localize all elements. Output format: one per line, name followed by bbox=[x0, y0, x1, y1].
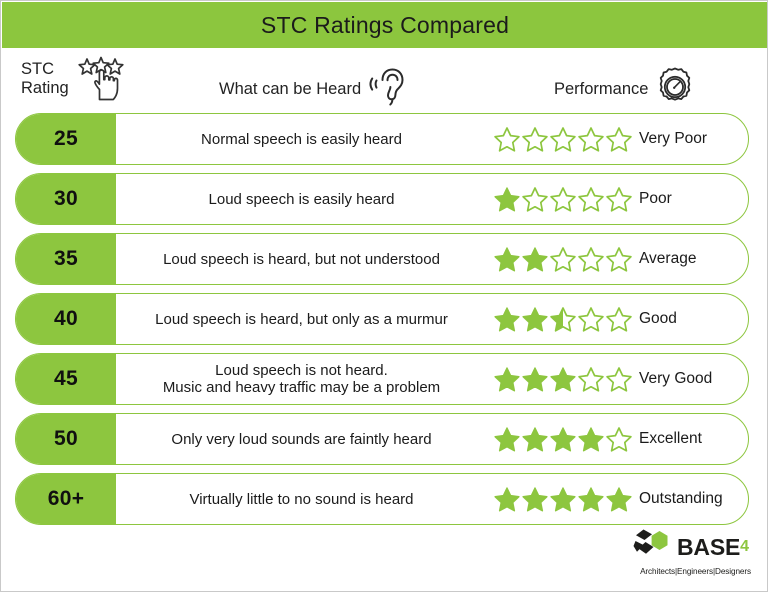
table-row[interactable]: 50Only very loud sounds are faintly hear… bbox=[15, 413, 749, 465]
row-description: Only very loud sounds are faintly heard bbox=[116, 414, 493, 464]
star-icon bbox=[521, 186, 549, 213]
star-icon bbox=[605, 486, 633, 513]
stc-ratings-infographic: STC Ratings Compared STC Rating bbox=[0, 0, 768, 592]
ear-listening-icon bbox=[368, 66, 408, 113]
stc-rating-label: STC Rating bbox=[21, 56, 69, 98]
table-row[interactable]: 40Loud speech is heard, but only as a mu… bbox=[15, 293, 749, 345]
what-can-be-heard-label: What can be Heard bbox=[219, 80, 361, 99]
star-rating bbox=[493, 366, 633, 393]
star-icon bbox=[493, 486, 521, 513]
base4-diamond-logo-icon bbox=[633, 529, 673, 564]
star-rating bbox=[493, 426, 633, 453]
star-icon bbox=[577, 126, 605, 153]
table-row[interactable]: 45Loud speech is not heard. Music and he… bbox=[15, 353, 749, 405]
stc-rating-badge: 30 bbox=[16, 174, 116, 224]
star-icon bbox=[493, 426, 521, 453]
star-icon bbox=[605, 426, 633, 453]
star-rating bbox=[493, 126, 633, 153]
table-row[interactable]: 30Loud speech is easily heardPoor bbox=[15, 173, 749, 225]
logo-tagline: Architects|Engineers|Designers bbox=[633, 567, 751, 576]
star-icon bbox=[577, 426, 605, 453]
star-icon bbox=[521, 306, 549, 333]
star-rating bbox=[493, 186, 633, 213]
base4-logo: BASE4 Architects|Engineers|Designers bbox=[633, 529, 751, 581]
star-icon bbox=[605, 186, 633, 213]
performance-cell: Good bbox=[493, 294, 748, 344]
gear-gauge-icon bbox=[655, 66, 695, 113]
row-description: Loud speech is not heard. Music and heav… bbox=[116, 354, 493, 404]
logo-wordmark-text: BASE bbox=[677, 534, 740, 560]
performance-label: Performance bbox=[554, 80, 648, 99]
performance-cell: Very Good bbox=[493, 354, 748, 404]
row-description: Loud speech is heard, but not understood bbox=[116, 234, 493, 284]
star-rating bbox=[493, 246, 633, 273]
star-icon bbox=[605, 246, 633, 273]
star-icon bbox=[521, 426, 549, 453]
table-row[interactable]: 60+Virtually little to no sound is heard… bbox=[15, 473, 749, 525]
performance-cell: Very Poor bbox=[493, 114, 748, 164]
stc-rating-label-line1: STC bbox=[21, 60, 69, 79]
star-icon bbox=[577, 186, 605, 213]
stc-rating-badge: 35 bbox=[16, 234, 116, 284]
logo-wordmark: BASE4 bbox=[677, 535, 749, 559]
table-row[interactable]: 35Loud speech is heard, but not understo… bbox=[15, 233, 749, 285]
star-icon bbox=[605, 366, 633, 393]
stc-rating-label-line2: Rating bbox=[21, 79, 69, 98]
stc-rating-badge: 40 bbox=[16, 294, 116, 344]
performance-rating-label: Very Good bbox=[639, 370, 712, 388]
star-icon bbox=[493, 126, 521, 153]
star-icon bbox=[577, 306, 605, 333]
star-icon bbox=[521, 126, 549, 153]
performance-rating-label: Good bbox=[639, 310, 677, 328]
star-icon bbox=[605, 306, 633, 333]
performance-cell: Excellent bbox=[493, 414, 748, 464]
star-icon bbox=[521, 486, 549, 513]
star-icon bbox=[549, 126, 577, 153]
performance-cell: Outstanding bbox=[493, 474, 748, 524]
stc-rating-badge: 25 bbox=[16, 114, 116, 164]
row-description: Loud speech is heard, but only as a murm… bbox=[116, 294, 493, 344]
star-rating bbox=[493, 486, 633, 513]
column-header-stc-rating: STC Rating bbox=[21, 56, 128, 107]
star-icon bbox=[493, 186, 521, 213]
star-icon bbox=[549, 366, 577, 393]
title-band: STC Ratings Compared bbox=[2, 2, 768, 48]
row-description: Loud speech is easily heard bbox=[116, 174, 493, 224]
column-headers: STC Rating What can be Heard bbox=[1, 48, 767, 110]
star-icon bbox=[549, 186, 577, 213]
page-title: STC Ratings Compared bbox=[261, 12, 509, 39]
stc-rating-badge: 45 bbox=[16, 354, 116, 404]
performance-rating-label: Poor bbox=[639, 190, 672, 208]
star-icon bbox=[605, 126, 633, 153]
column-header-what-can-be-heard: What can be Heard bbox=[219, 66, 408, 113]
star-icon bbox=[549, 306, 577, 333]
stars-with-pointer-icon bbox=[76, 56, 128, 107]
star-rating bbox=[493, 306, 633, 333]
performance-cell: Average bbox=[493, 234, 748, 284]
star-icon bbox=[577, 366, 605, 393]
logo-mark-row: BASE4 bbox=[633, 529, 751, 564]
star-icon bbox=[549, 486, 577, 513]
logo-superscript: 4 bbox=[740, 538, 749, 555]
table-row[interactable]: 25Normal speech is easily heardVery Poor bbox=[15, 113, 749, 165]
stc-rating-badge: 50 bbox=[16, 414, 116, 464]
star-icon bbox=[549, 246, 577, 273]
star-icon bbox=[577, 486, 605, 513]
star-icon bbox=[521, 366, 549, 393]
performance-rating-label: Excellent bbox=[639, 430, 702, 448]
rating-rows: 25Normal speech is easily heardVery Poor… bbox=[15, 113, 749, 533]
star-icon bbox=[493, 306, 521, 333]
performance-rating-label: Average bbox=[639, 250, 696, 268]
row-description: Normal speech is easily heard bbox=[116, 114, 493, 164]
star-icon bbox=[577, 246, 605, 273]
star-icon bbox=[493, 366, 521, 393]
star-icon bbox=[493, 246, 521, 273]
performance-rating-label: Outstanding bbox=[639, 490, 723, 508]
column-header-performance: Performance bbox=[554, 66, 695, 113]
stc-rating-badge: 60+ bbox=[16, 474, 116, 524]
row-description: Virtually little to no sound is heard bbox=[116, 474, 493, 524]
star-icon bbox=[549, 426, 577, 453]
star-icon bbox=[521, 246, 549, 273]
performance-rating-label: Very Poor bbox=[639, 130, 707, 148]
performance-cell: Poor bbox=[493, 174, 748, 224]
